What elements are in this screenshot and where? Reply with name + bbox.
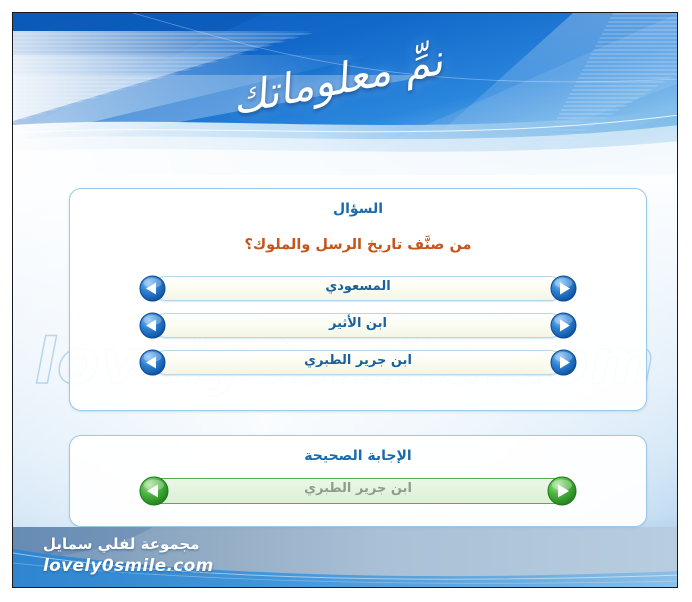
answer-label: ابن جرير الطبري xyxy=(139,481,577,496)
option-row[interactable]: ابن الأثير xyxy=(139,312,577,339)
play-triangle-left-icon[interactable] xyxy=(139,275,166,302)
footer-banner: مجموعة لفلي سمايل lovely0smile.com xyxy=(13,527,678,587)
play-triangle-right-green-icon[interactable] xyxy=(547,476,577,506)
banner-artwork xyxy=(13,13,678,175)
option-row[interactable]: ابن جرير الطبري xyxy=(139,349,577,376)
play-triangle-left-green-icon[interactable] xyxy=(139,476,169,506)
options-list: المسعودي xyxy=(70,275,646,376)
play-triangle-left-icon[interactable] xyxy=(139,349,166,376)
correct-answer-row[interactable]: ابن جرير الطبري xyxy=(139,476,577,506)
play-triangle-left-icon[interactable] xyxy=(139,312,166,339)
play-triangle-right-icon[interactable] xyxy=(550,312,577,339)
question-panel-heading: السؤال xyxy=(70,201,646,217)
header-banner: نمِّ معلوماتك xyxy=(13,13,678,175)
footer-url-text: lovely0smile.com xyxy=(43,556,214,576)
question-text: من صنَّف تاريخ الرسل والملوك؟ xyxy=(70,237,646,253)
answer-panel: الإجابة الصحيحة ابن جرير الطبري xyxy=(69,435,647,527)
footer-arabic-text: مجموعة لفلي سمايل xyxy=(43,535,200,553)
app-frame: نمِّ معلوماتك lovely0smile.com السؤال من… xyxy=(12,12,678,588)
question-panel: السؤال من صنَّف تاريخ الرسل والملوك؟ الم… xyxy=(69,188,647,411)
play-triangle-right-icon[interactable] xyxy=(550,275,577,302)
option-row[interactable]: المسعودي xyxy=(139,275,577,302)
option-label: ابن الأثير xyxy=(139,316,577,331)
answer-panel-heading: الإجابة الصحيحة xyxy=(70,448,646,464)
option-label: المسعودي xyxy=(139,279,577,294)
option-label: ابن جرير الطبري xyxy=(139,353,577,368)
play-triangle-right-icon[interactable] xyxy=(550,349,577,376)
